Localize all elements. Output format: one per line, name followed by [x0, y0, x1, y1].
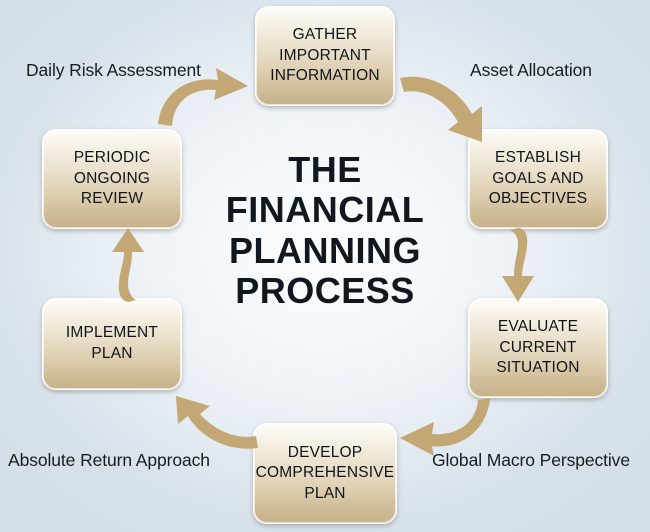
process-node-label: EVALUATE CURRENT SITUATION: [490, 317, 585, 379]
process-node-label: DEVELOP COMPREHENSIVE PLAN: [250, 443, 401, 505]
financial-planning-process-diagram: THE FINANCIAL PLANNING PROCESS GATHER IM…: [0, 0, 650, 532]
process-node-develop-comprehensive-plan[interactable]: DEVELOP COMPREHENSIVE PLAN: [253, 423, 397, 524]
process-node-label: PERIODIC ONGOING REVIEW: [68, 148, 157, 210]
process-node-label: ESTABLISH GOALS AND OBJECTIVES: [483, 148, 593, 210]
process-node-periodic-ongoing-review[interactable]: PERIODIC ONGOING REVIEW: [42, 129, 182, 229]
process-node-evaluate-current-situation[interactable]: EVALUATE CURRENT SITUATION: [468, 298, 608, 398]
diagram-title: THE FINANCIAL PLANNING PROCESS: [195, 150, 455, 311]
arrow-evaluate-to-develop-icon: [396, 396, 496, 458]
arrow-gather-to-establish-icon: [396, 72, 496, 144]
process-node-label: GATHER IMPORTANT INFORMATION: [264, 25, 386, 87]
process-node-label: IMPLEMENT PLAN: [60, 323, 164, 364]
arrow-periodic-to-gather-icon: [152, 66, 252, 128]
arrow-develop-to-implement-icon: [162, 396, 262, 458]
arrow-implement-to-periodic-icon: [98, 226, 154, 302]
process-node-implement-plan[interactable]: IMPLEMENT PLAN: [42, 298, 182, 390]
arrow-establish-to-evaluate-icon: [492, 228, 548, 304]
process-node-gather-important-information[interactable]: GATHER IMPORTANT INFORMATION: [255, 6, 395, 106]
process-node-establish-goals-and-objectives[interactable]: ESTABLISH GOALS AND OBJECTIVES: [468, 129, 608, 229]
